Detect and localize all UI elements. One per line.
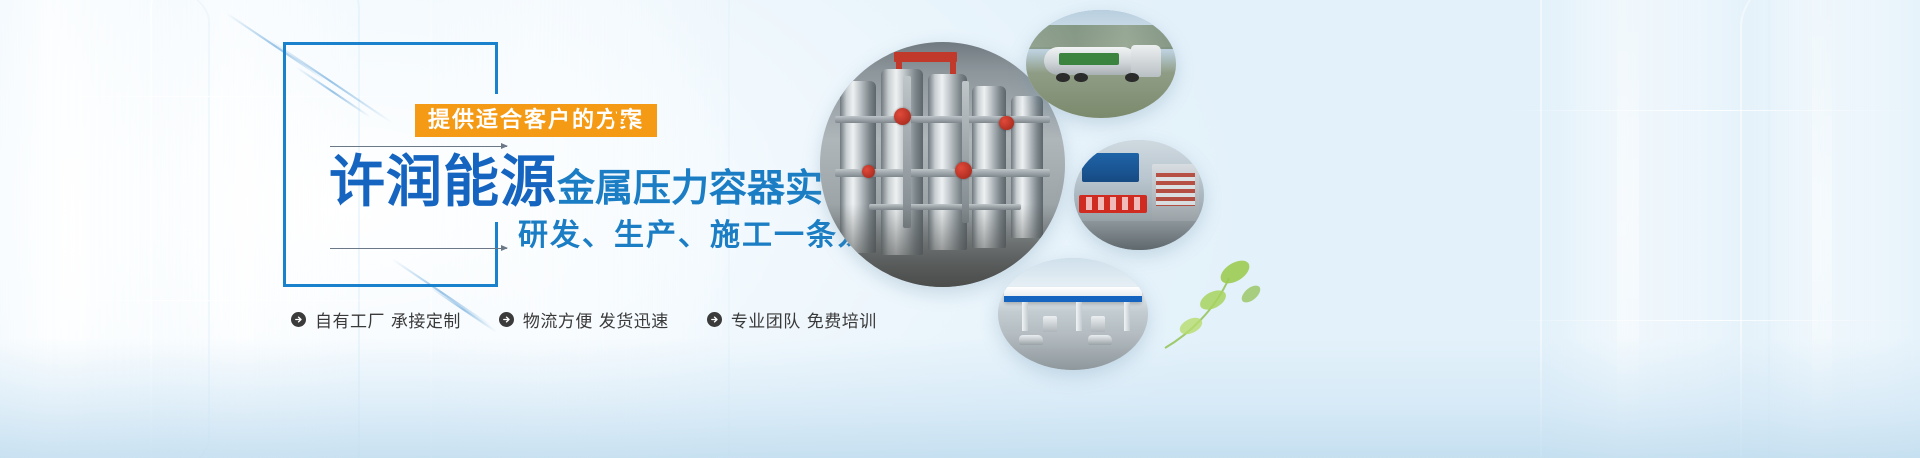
decor-rule-top xyxy=(330,146,507,147)
brand-name: 许润能源 xyxy=(329,155,557,211)
tanker-truck-photo xyxy=(1026,10,1176,118)
feature-label: 物流方便 发货迅速 xyxy=(523,307,669,332)
arrow-right-circle-icon xyxy=(499,312,514,327)
gas-station-equipment-photo xyxy=(1074,140,1204,250)
arrow-right-circle-icon xyxy=(707,312,722,327)
decor-rule-bottom xyxy=(330,248,507,249)
background-hoop-line xyxy=(0,300,430,301)
background-hoop-line xyxy=(1500,110,1920,111)
photo-content xyxy=(998,258,1148,370)
photo-content xyxy=(1026,10,1176,118)
decor-bracket-right-bottom xyxy=(495,222,498,287)
sparkle-icon xyxy=(606,104,636,138)
background-sheen xyxy=(1617,0,1639,458)
feature-label: 自有工厂 承接定制 xyxy=(315,307,461,332)
background-sheen xyxy=(60,0,86,458)
photo-content xyxy=(1074,140,1204,250)
decor-bracket-right-top xyxy=(495,42,498,94)
photo-cluster xyxy=(820,0,1240,458)
background-tank-shape xyxy=(1540,0,1770,458)
background-sheen xyxy=(236,0,254,458)
hero-banner: 提供适合客户的方案 许润能源 金属压力容器实体生产厂家 研发、生产、施工一条龙服… xyxy=(0,0,1920,458)
background-tank-shape xyxy=(1740,0,1920,458)
fuel-station-photo xyxy=(998,258,1148,370)
feature-list: 自有工厂 承接定制 物流方便 发货迅速 专业团队 免费培训 xyxy=(291,307,877,332)
feature-item: 物流方便 发货迅速 xyxy=(499,307,669,332)
leaf-decoration-icon xyxy=(1155,248,1275,358)
background-sheen xyxy=(1812,0,1832,458)
feature-item: 自有工厂 承接定制 xyxy=(291,307,461,332)
arrow-right-circle-icon xyxy=(291,312,306,327)
background-hoop-line xyxy=(1500,320,1920,321)
background-tank-shape xyxy=(0,0,210,458)
